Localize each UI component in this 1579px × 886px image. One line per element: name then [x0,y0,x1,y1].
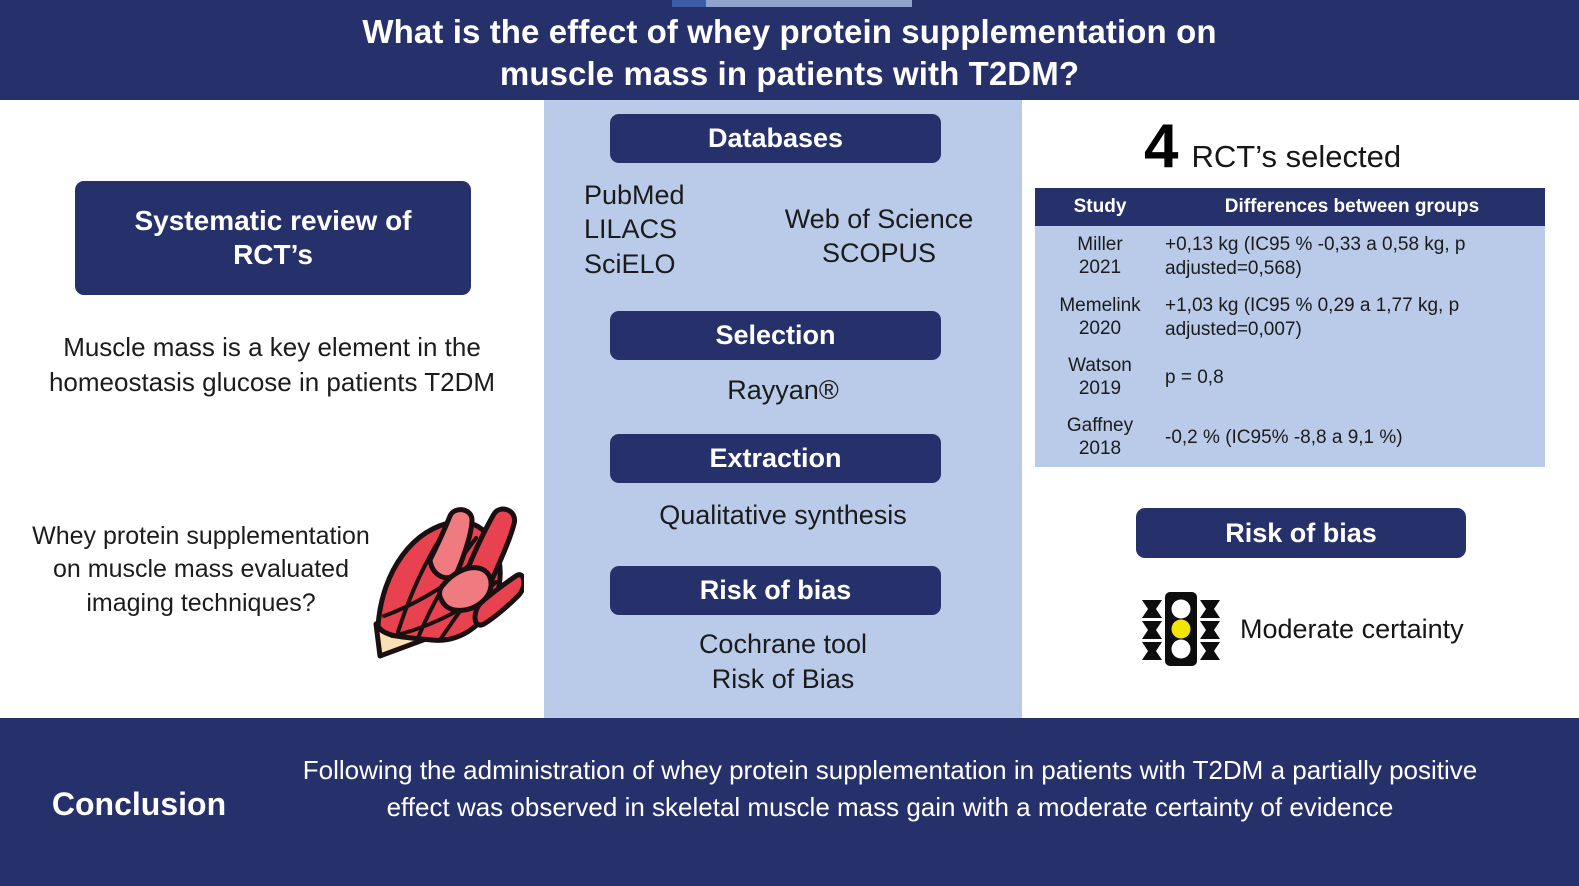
risk-tool-line2: Risk of Bias [712,664,855,694]
traffic-light-red-lamp [1172,600,1191,619]
databases-heading: Databases [610,114,941,163]
infographic-poster: What is the effect of whey protein suppl… [0,0,1579,886]
databases-list-left: PubMed LILACS SciELO [584,178,685,281]
studies-table-header: Study Differences between groups [1035,188,1545,226]
conclusion-label: Conclusion [24,786,254,823]
table-row: Watson 2019 p = 0,8 [1035,348,1545,408]
extraction-heading: Extraction [610,434,941,483]
conclusion-text: Following the administration of whey pro… [270,752,1510,826]
study-name: Watson [1068,355,1132,378]
cell-study: Miller 2021 [1035,233,1165,280]
systematic-review-line1: Systematic review of [134,205,411,236]
traffic-light-icon [1140,590,1222,668]
systematic-review-line2: RCT’s [233,239,313,270]
systematic-review-pill: Systematic review of RCT’s [75,181,471,295]
column-header-differences: Differences between groups [1165,188,1545,226]
rct-count-label: RCT’s selected [1191,139,1401,175]
middle-column: Databases PubMed LILACS SciELO Web of Sc… [544,100,1022,718]
risk-of-bias-heading-right: Risk of bias [1136,508,1466,558]
left-column: Systematic review of RCT’s Muscle mass i… [0,100,544,718]
extraction-method-label: Qualitative synthesis [544,498,1022,533]
selection-tool-label: Rayyan® [544,373,1022,408]
database-item-scopus: SCOPUS [754,236,1004,270]
cell-difference: p = 0,8 [1165,355,1545,401]
study-name: Miller [1077,234,1122,257]
certainty-label: Moderate certainty [1240,614,1464,645]
study-year: 2020 [1079,318,1121,341]
database-item-pubmed: PubMed [584,178,685,212]
header-title-line2: muscle mass in patients with T2DM? [500,55,1079,92]
muscle-fiber-icon [372,504,524,664]
top-accent-strip [672,0,912,7]
study-name: Memelink [1059,295,1140,318]
databases-list: PubMed LILACS SciELO Web of Science SCOP… [544,178,1022,288]
right-column: 4 RCT’s selected Study Differences betwe… [1022,100,1579,718]
study-year: 2019 [1079,378,1121,401]
study-name: Gaffney [1067,415,1133,438]
studies-table: Study Differences between groups Miller … [1035,188,1545,467]
poster-body: Systematic review of RCT’s Muscle mass i… [0,100,1579,718]
conclusion-footer: Conclusion Following the administration … [0,718,1579,886]
database-item-scielo: SciELO [584,247,685,281]
research-question-text: Whey protein supplementation on muscle m… [16,520,386,620]
selection-heading: Selection [610,311,941,360]
muscle-mass-paragraph: Muscle mass is a key element in the home… [36,330,508,399]
column-header-study: Study [1035,188,1165,226]
cell-study: Gaffney 2018 [1035,415,1165,461]
poster-header: What is the effect of whey protein suppl… [0,0,1579,100]
table-row: Miller 2021 +0,13 kg (IC95 % -0,33 a 0,5… [1035,226,1545,287]
page-title: What is the effect of whey protein suppl… [362,11,1216,95]
traffic-light-yellow-lamp [1172,620,1191,639]
cell-difference: -0,2 % (IC95% -8,8 a 9,1 %) [1165,415,1545,461]
study-year: 2018 [1079,438,1121,461]
databases-list-right: Web of Science SCOPUS [754,202,1004,271]
certainty-rating: Moderate certainty [1140,590,1464,668]
risk-of-bias-heading-middle: Risk of bias [610,566,941,615]
header-title-line1: What is the effect of whey protein suppl… [362,13,1216,50]
cell-study: Memelink 2020 [1035,294,1165,341]
database-item-lilacs: LILACS [584,212,685,246]
study-year: 2021 [1079,257,1121,280]
risk-tool-line1: Cochrane tool [699,629,867,659]
table-row: Memelink 2020 +1,03 kg (IC95 % 0,29 a 1,… [1035,287,1545,348]
table-row: Gaffney 2018 -0,2 % (IC95% -8,8 a 9,1 %) [1035,408,1545,468]
cell-difference: +1,03 kg (IC95 % 0,29 a 1,77 kg, p adjus… [1165,294,1545,341]
cell-study: Watson 2019 [1035,355,1165,401]
top-accent-strip-marker [672,0,706,7]
rct-count-number: 4 [1144,122,1177,172]
risk-of-bias-tool-label: Cochrane tool Risk of Bias [544,627,1022,697]
rct-selected-summary: 4 RCT’s selected [1144,122,1401,175]
traffic-light-green-lamp [1172,640,1191,659]
database-item-web-of-science: Web of Science [754,202,1004,236]
cell-difference: +0,13 kg (IC95 % -0,33 a 0,58 kg, p adju… [1165,233,1545,280]
